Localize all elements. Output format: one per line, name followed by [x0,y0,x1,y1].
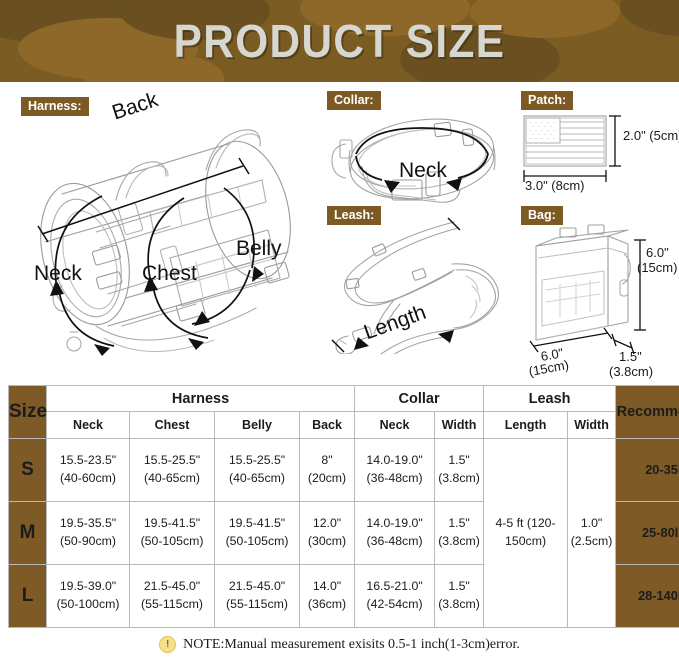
value-inches: 14.0" [313,579,341,593]
value-cm: (50-105cm) [215,533,299,551]
value-inches: 19.5-41.5" [229,516,285,530]
collar-section-tag: Collar: [327,91,381,110]
table-subheader-harness-belly: Belly [215,412,300,439]
table-group-collar: Collar [355,386,484,412]
value-cm: (2.5cm) [571,534,613,548]
value-inches: 15.5-25.5" [144,453,200,467]
product-size-infographic: PRODUCT SIZE [0,0,679,664]
table-row: S 15.5-23.5" (40-60cm) 15.5-25.5" (40-65… [9,439,679,502]
illustration-area: Harness: Back Neck Chest Belly [0,82,679,378]
cell-recommended-weight: 28-140lb (13-64kg) [616,565,679,628]
cell-recommended-weight: 25-80lb (11-36kg) [616,502,679,565]
table-group-recommended-weight: Recommended weight [616,386,679,439]
value-lb: 25-80lb [642,525,679,540]
bag-height-dimension-line2: (15cm) [637,261,677,276]
leash-section-tag: Leash: [327,206,381,225]
value-inches: 14.0-19.0" [366,516,422,530]
cell-collar-width: 1.5" (3.8cm) [435,439,484,502]
table-subheader-leash-width: Width [568,412,616,439]
row-size-label: L [9,565,47,628]
value-inches: 19.5-41.5" [144,516,200,530]
cell-harness-chest: 19.5-41.5" (50-105cm) [130,502,215,565]
cell-collar-neck: 16.5-21.0" (42-54cm) [355,565,435,628]
value-cm: (20cm) [300,470,354,488]
table-subheader-collar-neck: Neck [355,412,435,439]
cell-harness-neck: 19.5-35.5" (50-90cm) [47,502,130,565]
value-cm: (50-105cm) [130,533,214,551]
patch-illustration [520,110,675,188]
value-cm: (50-90cm) [47,533,129,551]
harness-neck-label: Neck [34,262,82,286]
value-inches: 21.5-45.0" [144,579,200,593]
value-inches: 1.5" [448,579,469,593]
cell-collar-width: 1.5" (3.8cm) [435,502,484,565]
value-cm: (55-115cm) [215,596,299,614]
row-size-label: S [9,439,47,502]
cell-leash-length: 4-5 ft (120-150cm) [484,439,568,628]
value-lb: 20-35lb [645,462,679,477]
table-subheader-harness-chest: Chest [130,412,215,439]
value-cm: (36-48cm) [355,533,434,551]
row-size-label: M [9,502,47,565]
table-subheader-harness-back: Back [300,412,355,439]
value-cm: (36-48cm) [355,470,434,488]
cell-harness-back: 8" (20cm) [300,439,355,502]
header-banner: PRODUCT SIZE [0,0,679,82]
warning-icon: ! [159,636,176,653]
size-table-wrapper: Size Harness Collar Leash Recommended we… [8,385,671,628]
cell-harness-belly: 19.5-41.5" (50-105cm) [215,502,300,565]
table-subheader-collar-width: Width [435,412,484,439]
value-cm: (55-115cm) [130,596,214,614]
value-cm: (30cm) [300,533,354,551]
patch-section-tag: Patch: [521,91,573,110]
cell-harness-chest: 21.5-45.0" (55-115cm) [130,565,215,628]
value-inches: 21.5-45.0" [229,579,285,593]
cell-collar-neck: 14.0-19.0" (36-48cm) [355,439,435,502]
value-cm: (50-100cm) [47,596,129,614]
value-cm: (3.8cm) [435,596,483,614]
cell-collar-width: 1.5" (3.8cm) [435,565,484,628]
harness-illustration [0,82,330,378]
value-inches: 1.5" [448,453,469,467]
table-subheader-leash-length: Length [484,412,568,439]
bag-height-dimension-line1: 6.0" [646,246,669,261]
value-cm: (42-54cm) [355,596,434,614]
size-table: Size Harness Collar Leash Recommended we… [8,385,679,628]
table-header-size: Size [9,386,47,439]
cell-recommended-weight: 20-35lb (9-16kg) [616,439,679,502]
harness-belly-label: Belly [236,237,282,261]
value-inches: 19.5-35.5" [60,516,116,530]
table-subheader-harness-neck: Neck [47,412,130,439]
page-title: PRODUCT SIZE [27,0,652,82]
value-cm: (3.8cm) [435,470,483,488]
bag-illustration [520,218,678,368]
value-cm: (40-65cm) [215,470,299,488]
value-inches: 1.0" [581,516,602,530]
table-subheader-row: Neck Chest Belly Back Neck Width Length … [9,412,679,439]
measurement-note: ! NOTE:Manual measurement exisits 0.5-1 … [0,636,679,653]
cell-harness-neck: 19.5-39.0" (50-100cm) [47,565,130,628]
patch-width-dimension: 3.0" (8cm) [525,179,585,194]
cell-harness-belly: 21.5-45.0" (55-115cm) [215,565,300,628]
cell-harness-back: 14.0" (36cm) [300,565,355,628]
harness-section-tag: Harness: [21,97,89,116]
value-inches: 12.0" [313,516,341,530]
patch-height-dimension: 2.0" (5cm) [623,129,679,144]
value-inches: 15.5-23.5" [60,453,116,467]
value-inches: 16.5-21.0" [366,579,422,593]
value-cm: (3.8cm) [435,533,483,551]
bag-section-tag: Bag: [521,206,563,225]
value-inches: 1.5" [448,516,469,530]
bag-depth-dimension-line1: 1.5" [619,350,642,365]
value-lb: 28-140lb [638,588,679,603]
cell-leash-width: 1.0" (2.5cm) [568,439,616,628]
cell-collar-neck: 14.0-19.0" (36-48cm) [355,502,435,565]
harness-chest-label: Chest [142,262,197,286]
value-inches: 19.5-39.0" [60,579,116,593]
table-group-leash: Leash [484,386,616,412]
leash-illustration [326,214,516,354]
note-text: NOTE:Manual measurement exisits 0.5-1 in… [183,637,520,653]
value-cm: (40-60cm) [47,470,129,488]
table-group-header-row: Size Harness Collar Leash Recommended we… [9,386,679,412]
collar-illustration [326,104,516,212]
value-cm: (36cm) [300,596,354,614]
cell-harness-back: 12.0" (30cm) [300,502,355,565]
bag-depth-dimension-line2: (3.8cm) [609,365,653,380]
collar-neck-label: Neck [399,159,447,183]
table-group-harness: Harness [47,386,355,412]
cell-harness-neck: 15.5-23.5" (40-60cm) [47,439,130,502]
value-cm: (40-65cm) [130,470,214,488]
value-inches: 15.5-25.5" [229,453,285,467]
value-inches: 8" [321,453,332,467]
cell-harness-chest: 15.5-25.5" (40-65cm) [130,439,215,502]
value-feet: 4-5 ft [495,516,523,530]
cell-harness-belly: 15.5-25.5" (40-65cm) [215,439,300,502]
value-inches: 14.0-19.0" [366,453,422,467]
